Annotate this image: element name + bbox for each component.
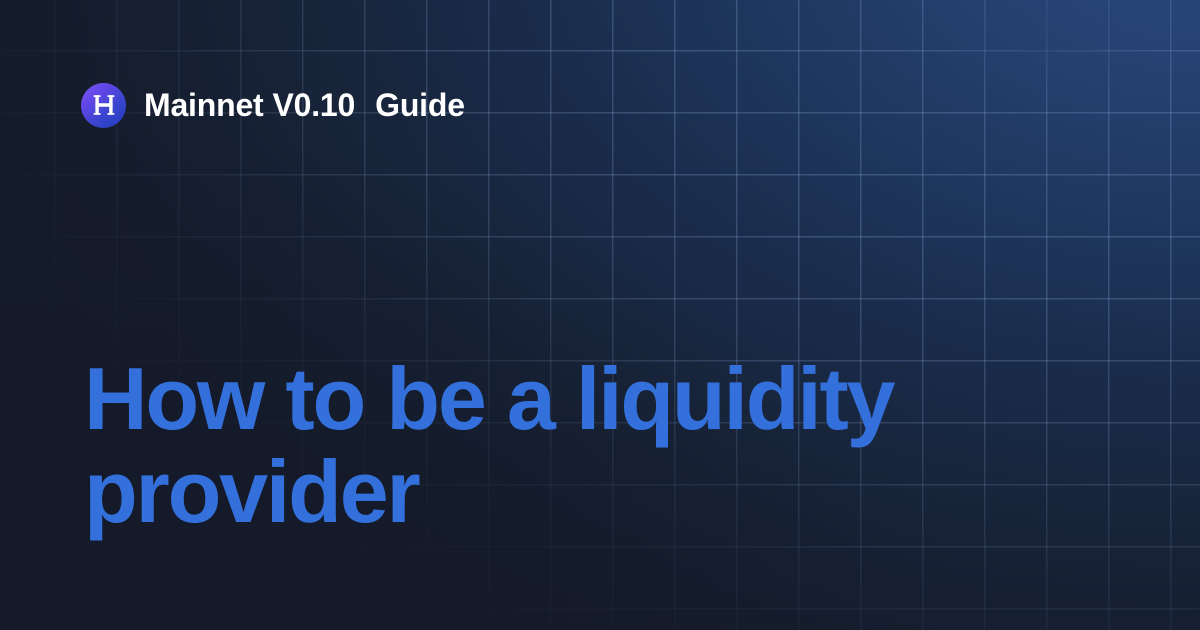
og-card: Mainnet V0.10 Guide How to be a liquidit… xyxy=(0,0,1200,630)
header-product-name: Mainnet xyxy=(144,87,264,124)
page-title: How to be a liquidity provider xyxy=(84,352,1084,538)
header-title: Mainnet V0.10 Guide xyxy=(144,87,465,124)
page-title-line-2: provider xyxy=(84,445,1084,538)
header-kind-label: Guide xyxy=(375,87,465,124)
page-title-line-1: How to be a liquidity xyxy=(84,352,1084,445)
header-brand-row: Mainnet V0.10 Guide xyxy=(81,82,465,128)
header-version-label: V0.10 xyxy=(273,87,356,124)
h-logo-icon xyxy=(81,83,126,128)
